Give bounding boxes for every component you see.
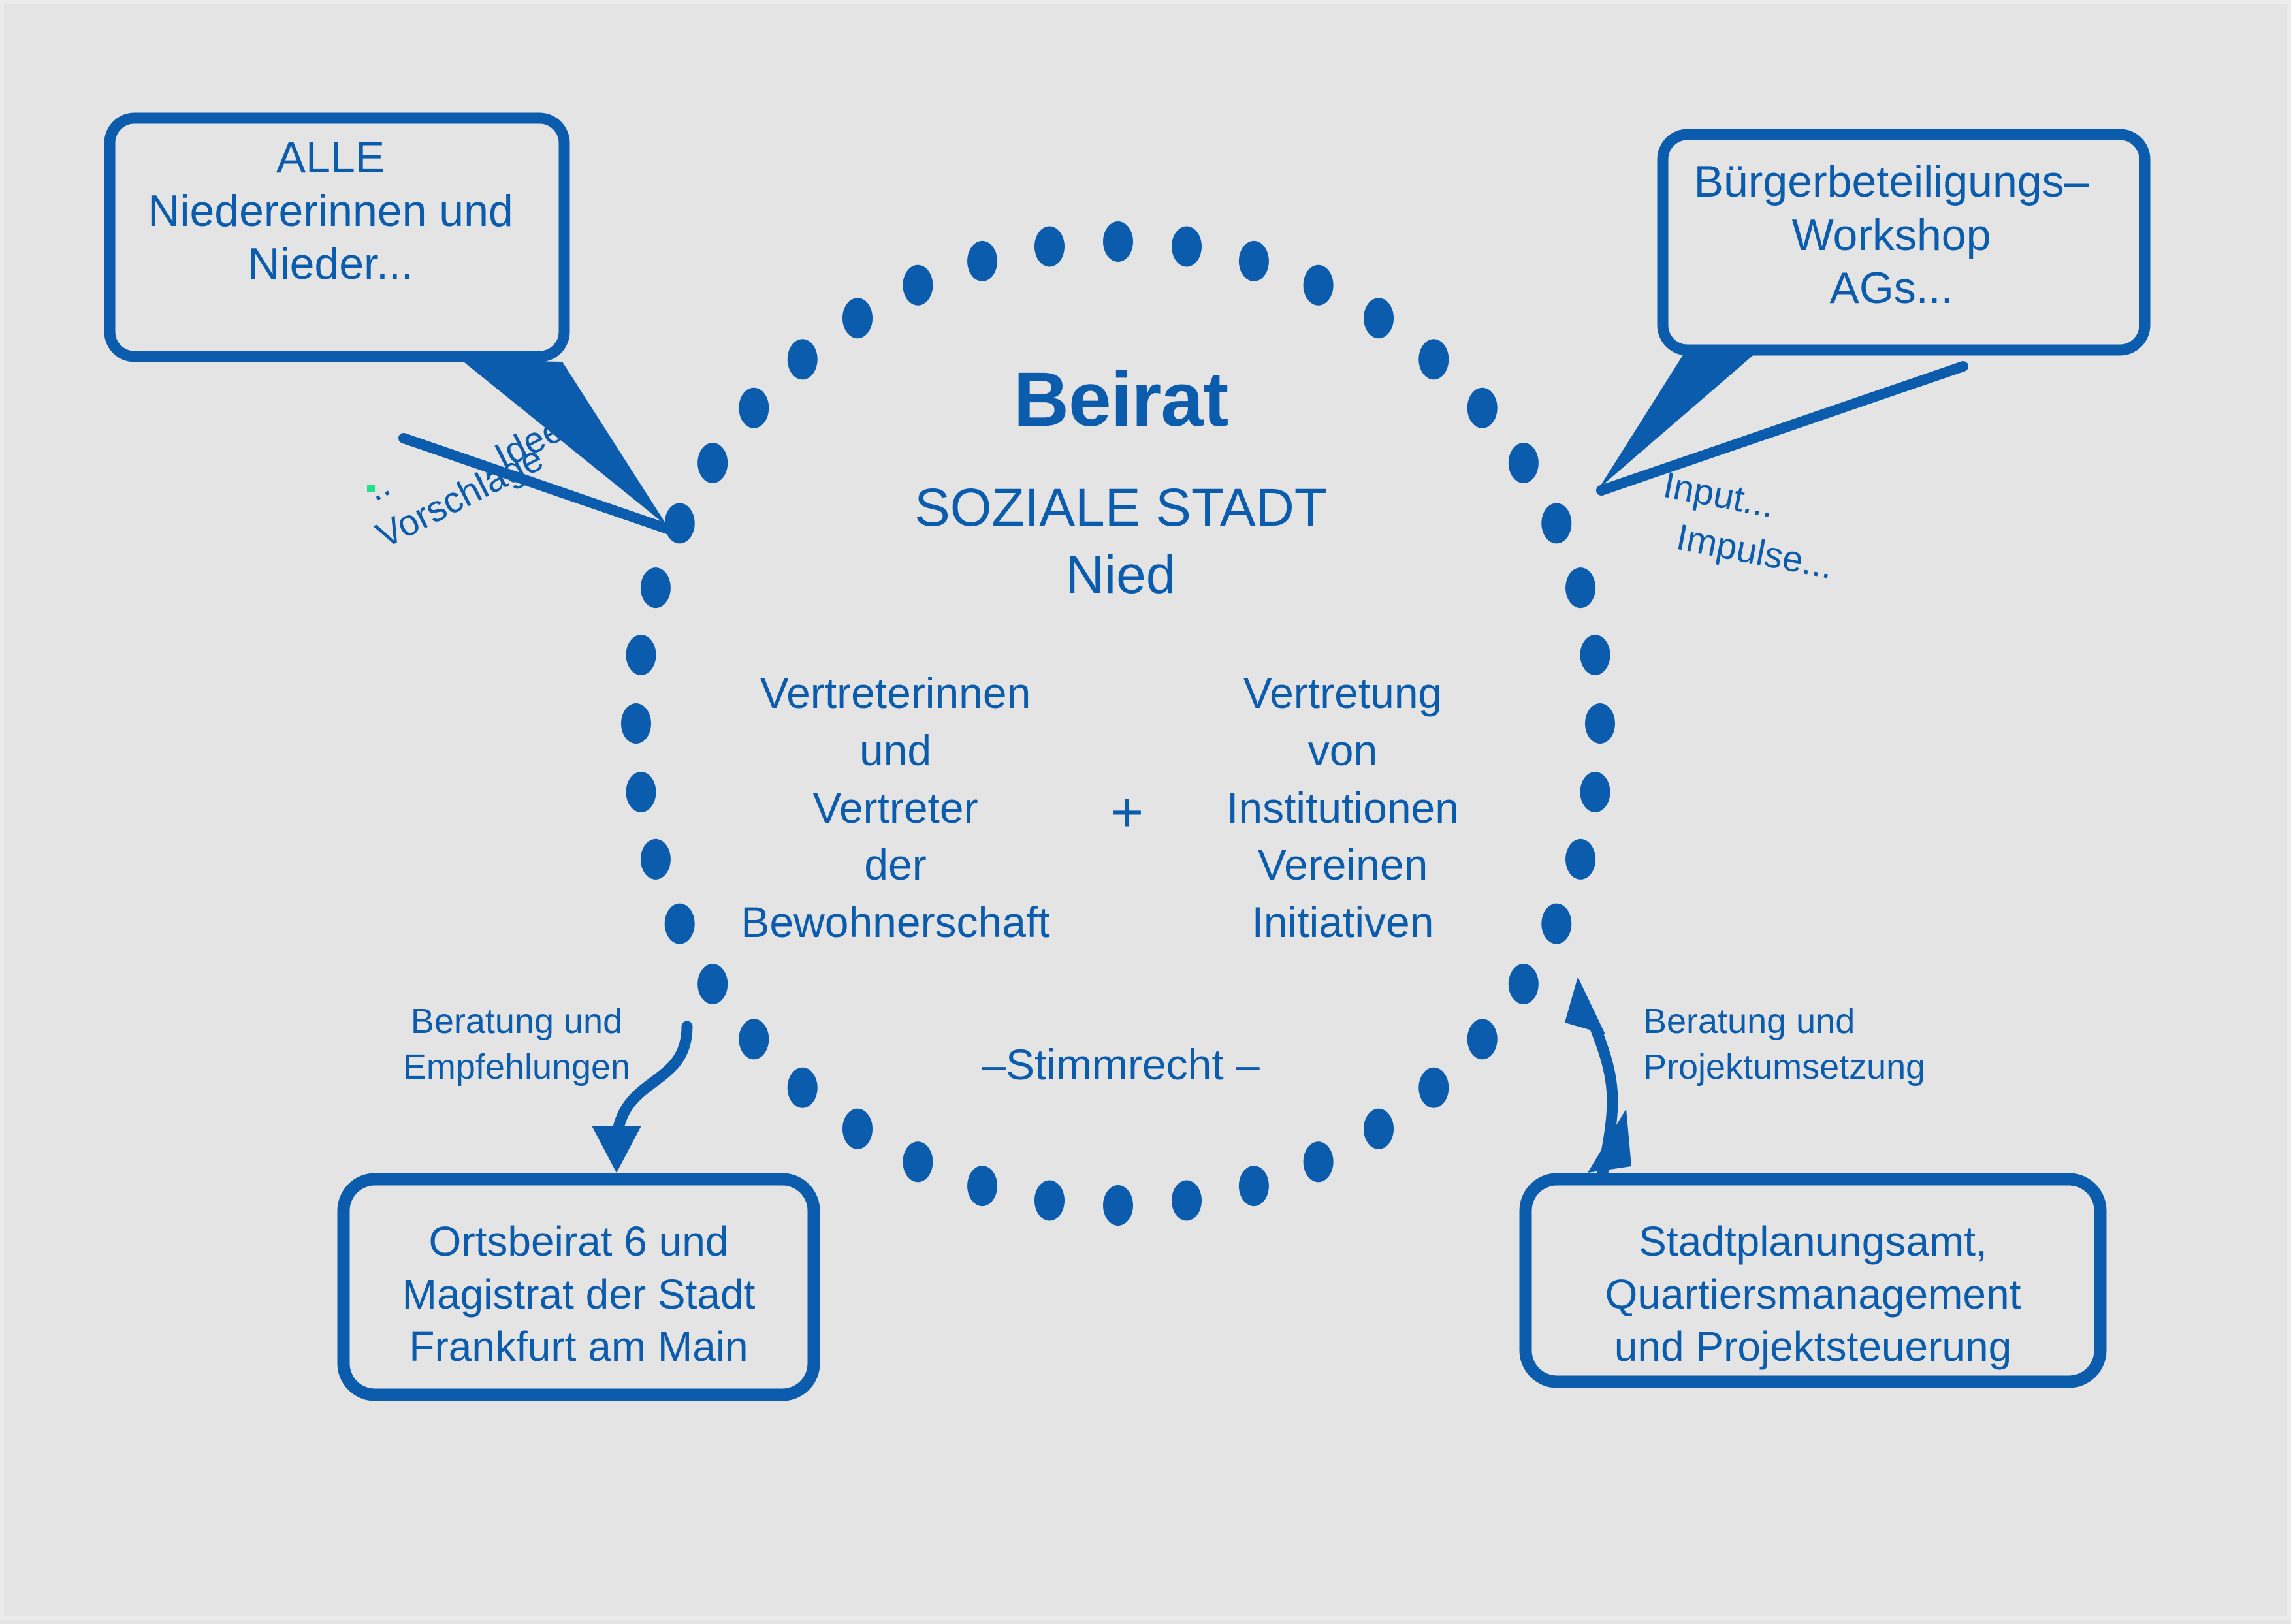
ring-dot	[1585, 703, 1615, 744]
ring-dot	[842, 298, 873, 338]
ring-dot	[1418, 1068, 1449, 1108]
ring-dot	[903, 265, 933, 306]
ring-dot	[842, 1109, 873, 1149]
ring-dot	[626, 772, 656, 812]
box-bottom-left-label: Ortsbeirat 6 und Magistrat der Stadt Fra…	[357, 1215, 801, 1373]
ring-dot	[1580, 635, 1610, 675]
ring-dot	[967, 1166, 997, 1206]
ring-dot	[621, 703, 651, 744]
ring-dot	[1467, 1019, 1498, 1059]
ring-dot	[967, 241, 997, 281]
ring-dot	[1172, 1181, 1202, 1221]
ring-dot	[1364, 298, 1394, 338]
ring-dot	[1467, 388, 1498, 428]
ring-dot	[903, 1141, 933, 1182]
ring-dot	[626, 635, 656, 675]
ring-dot	[1541, 503, 1571, 543]
speech-bubble-top-left-label: ALLE Niedererinnen und Nieder...	[102, 131, 559, 291]
diagram-canvas: ALLE Niedererinnen und Nieder... Bürgerb…	[0, 0, 2291, 1620]
ring-dot	[1034, 1181, 1065, 1221]
ring-dot	[1565, 839, 1595, 880]
voting-rights-note: –Stimmrecht –	[892, 1041, 1349, 1089]
box-bottom-right-label: Stadtplanungsamt, Quartiersmanagement un…	[1539, 1215, 2087, 1373]
center-column-institutions: Vertretung von Institutionen Vereinen In…	[1173, 665, 1513, 951]
ring-dot	[1034, 227, 1065, 267]
ring-dot	[1103, 1185, 1133, 1226]
ring-dot	[1103, 221, 1133, 262]
ring-dot	[1565, 567, 1595, 608]
ring-dot	[1364, 1109, 1394, 1149]
ring-dot	[641, 839, 671, 880]
ring-dot	[1239, 1166, 1269, 1206]
ring-dot	[665, 503, 695, 543]
plus-sign: +	[1075, 781, 1179, 844]
ring-dot	[1509, 964, 1539, 1004]
speech-bubble-top-right-label: Bürgerbeteiligungs– Workshop AGs...	[1682, 155, 2100, 315]
ring-dot	[1304, 265, 1334, 306]
arrow-right-advice	[1565, 977, 1631, 1173]
label-beratung-empfehlungen: Beratung und Empfehlungen	[379, 998, 654, 1090]
ring-dot	[1239, 241, 1269, 281]
ring-dot	[1580, 772, 1610, 812]
center-subtitle: SOZIALE STADT Nied	[794, 474, 1447, 609]
ring-dot	[788, 1068, 818, 1108]
ring-dot	[739, 388, 769, 428]
ring-dot	[1304, 1141, 1334, 1182]
center-column-residents: Vertreterinnen und Vertreter der Bewohne…	[713, 665, 1078, 951]
ring-dot	[665, 904, 695, 944]
ring-dot	[739, 1019, 769, 1059]
center-title: Beirat	[794, 357, 1447, 443]
ring-dot	[697, 964, 728, 1004]
label-beratung-projektumsetzung: Beratung und Projektumsetzung	[1643, 998, 1970, 1090]
ring-dot	[1541, 904, 1571, 944]
ring-dot	[697, 443, 728, 483]
ring-dot	[1172, 227, 1202, 267]
ring-dot	[1509, 443, 1539, 483]
ring-dot	[641, 567, 671, 608]
